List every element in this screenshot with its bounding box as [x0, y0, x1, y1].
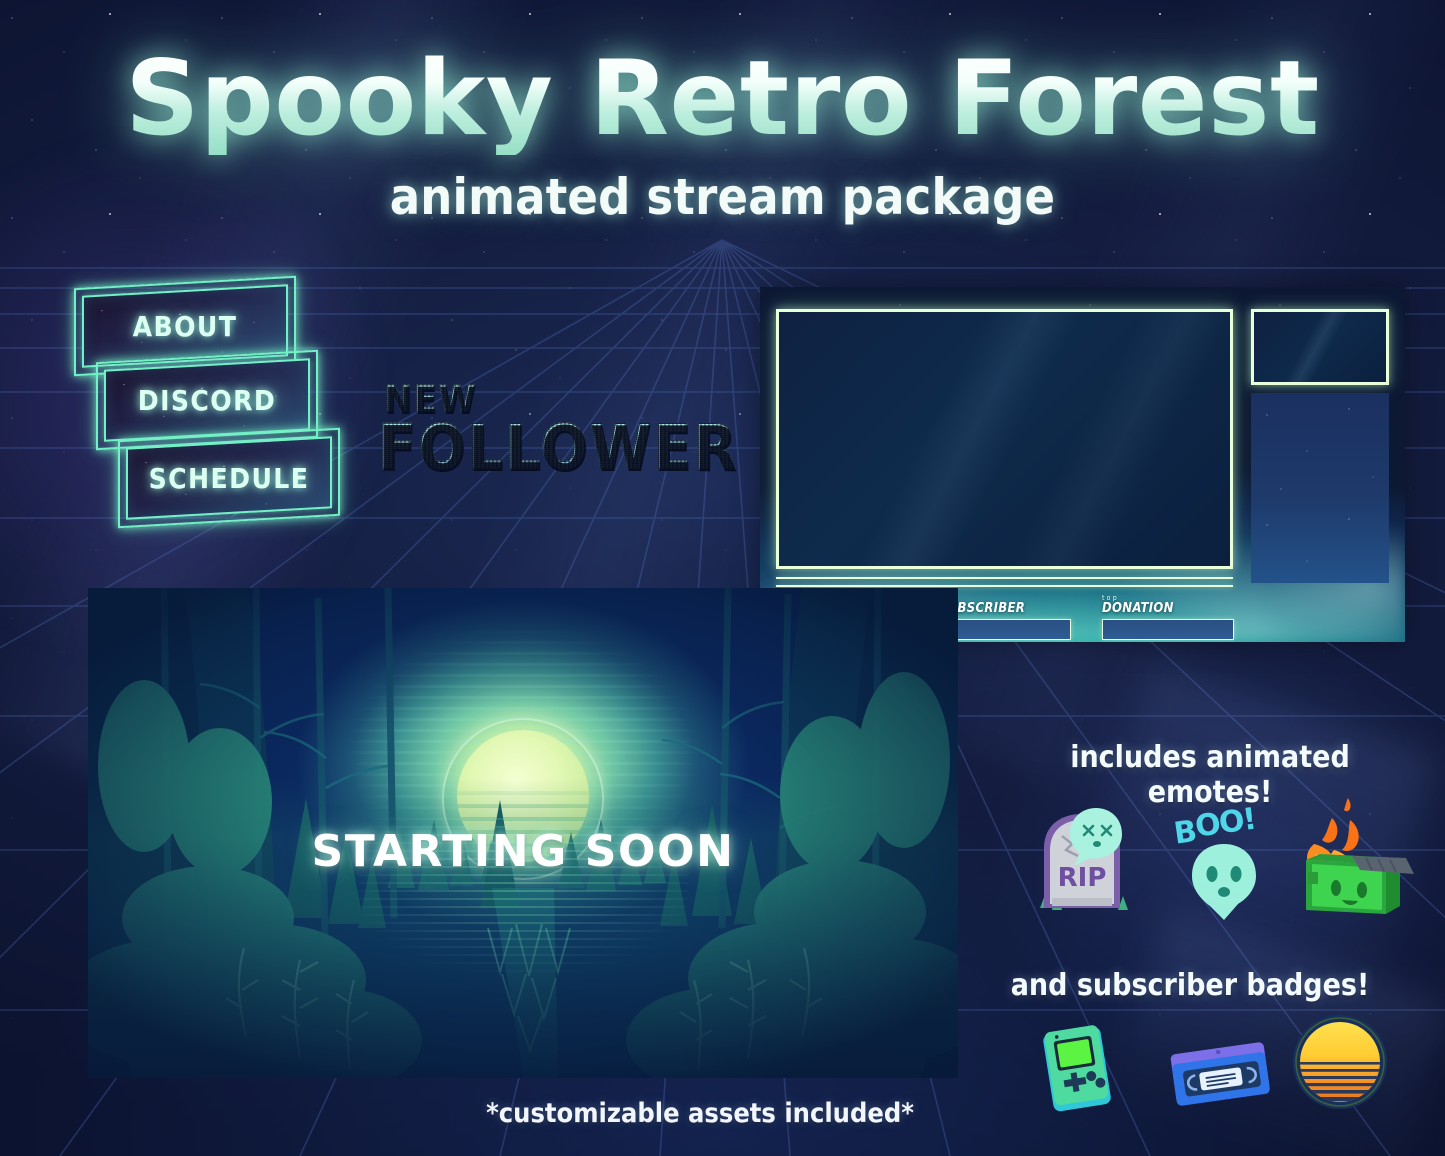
panel-button-group: ABOUT DISCORD SCHEDULE [62, 282, 402, 552]
gravestone-base [1052, 898, 1112, 906]
ghost-body [1192, 844, 1256, 920]
panel-button-schedule[interactable]: SCHEDULE [118, 428, 340, 528]
gameplay-capture-frame[interactable] [776, 309, 1233, 569]
stat-title: DONATION [1102, 602, 1234, 616]
page-title: Spooky Retro Forest [0, 44, 1445, 155]
stat-value-field[interactable] [1102, 619, 1234, 640]
follower-alert-text: NEW FOLLOWER [378, 382, 758, 492]
page-subtitle: animated stream package [0, 168, 1445, 226]
stat-value-field[interactable] [939, 619, 1071, 640]
webcam-frame[interactable] [1251, 309, 1389, 385]
gravestone-text: RIP [1058, 863, 1107, 893]
alert-headline: FOLLOWER [378, 417, 758, 479]
stat-new-subscriber: new SUBSCRIBER [939, 595, 1071, 640]
panel-button-label: SCHEDULE [118, 434, 340, 522]
badges-caption: and subscriber badges! [1010, 968, 1370, 1003]
console-screen [1057, 1039, 1092, 1068]
divider-line [776, 577, 1233, 579]
retro-sunset-badge[interactable] [1290, 1012, 1390, 1117]
dumpster-fire-emote[interactable] [1288, 792, 1418, 925]
badge-row [1010, 1010, 1410, 1120]
dumpster-eye-left [1331, 880, 1341, 896]
ghost-eye-left [1207, 866, 1218, 882]
stat-top-donation: top DONATION [1102, 595, 1234, 640]
footnote: *customizable assets included* [430, 1098, 970, 1129]
boo-lettering: B O O ! [1171, 804, 1259, 852]
starting-soon-scene: STARTING SOON [88, 588, 958, 1078]
emote-row: RIP B O O ! [1010, 790, 1420, 920]
dumpster-eye-right [1357, 882, 1367, 898]
ghost-eye-right [1231, 866, 1242, 882]
boo-ghost-emote[interactable]: B O O ! [1170, 804, 1280, 927]
scene-title: STARTING SOON [88, 826, 958, 877]
chat-panel[interactable] [1251, 393, 1389, 583]
divider-line [776, 585, 1233, 587]
promo-graphic: Spooky Retro Forest animated stream pack… [0, 0, 1445, 1156]
stat-title: SUBSCRIBER [939, 602, 1071, 616]
rip-gravestone-emote[interactable]: RIP [1018, 800, 1148, 925]
ghost-mouth [1218, 887, 1230, 897]
dumpster-panel [1308, 872, 1318, 884]
vhs-tape-badge[interactable] [1165, 1032, 1275, 1117]
handheld-console-badge[interactable] [1028, 1020, 1128, 1123]
